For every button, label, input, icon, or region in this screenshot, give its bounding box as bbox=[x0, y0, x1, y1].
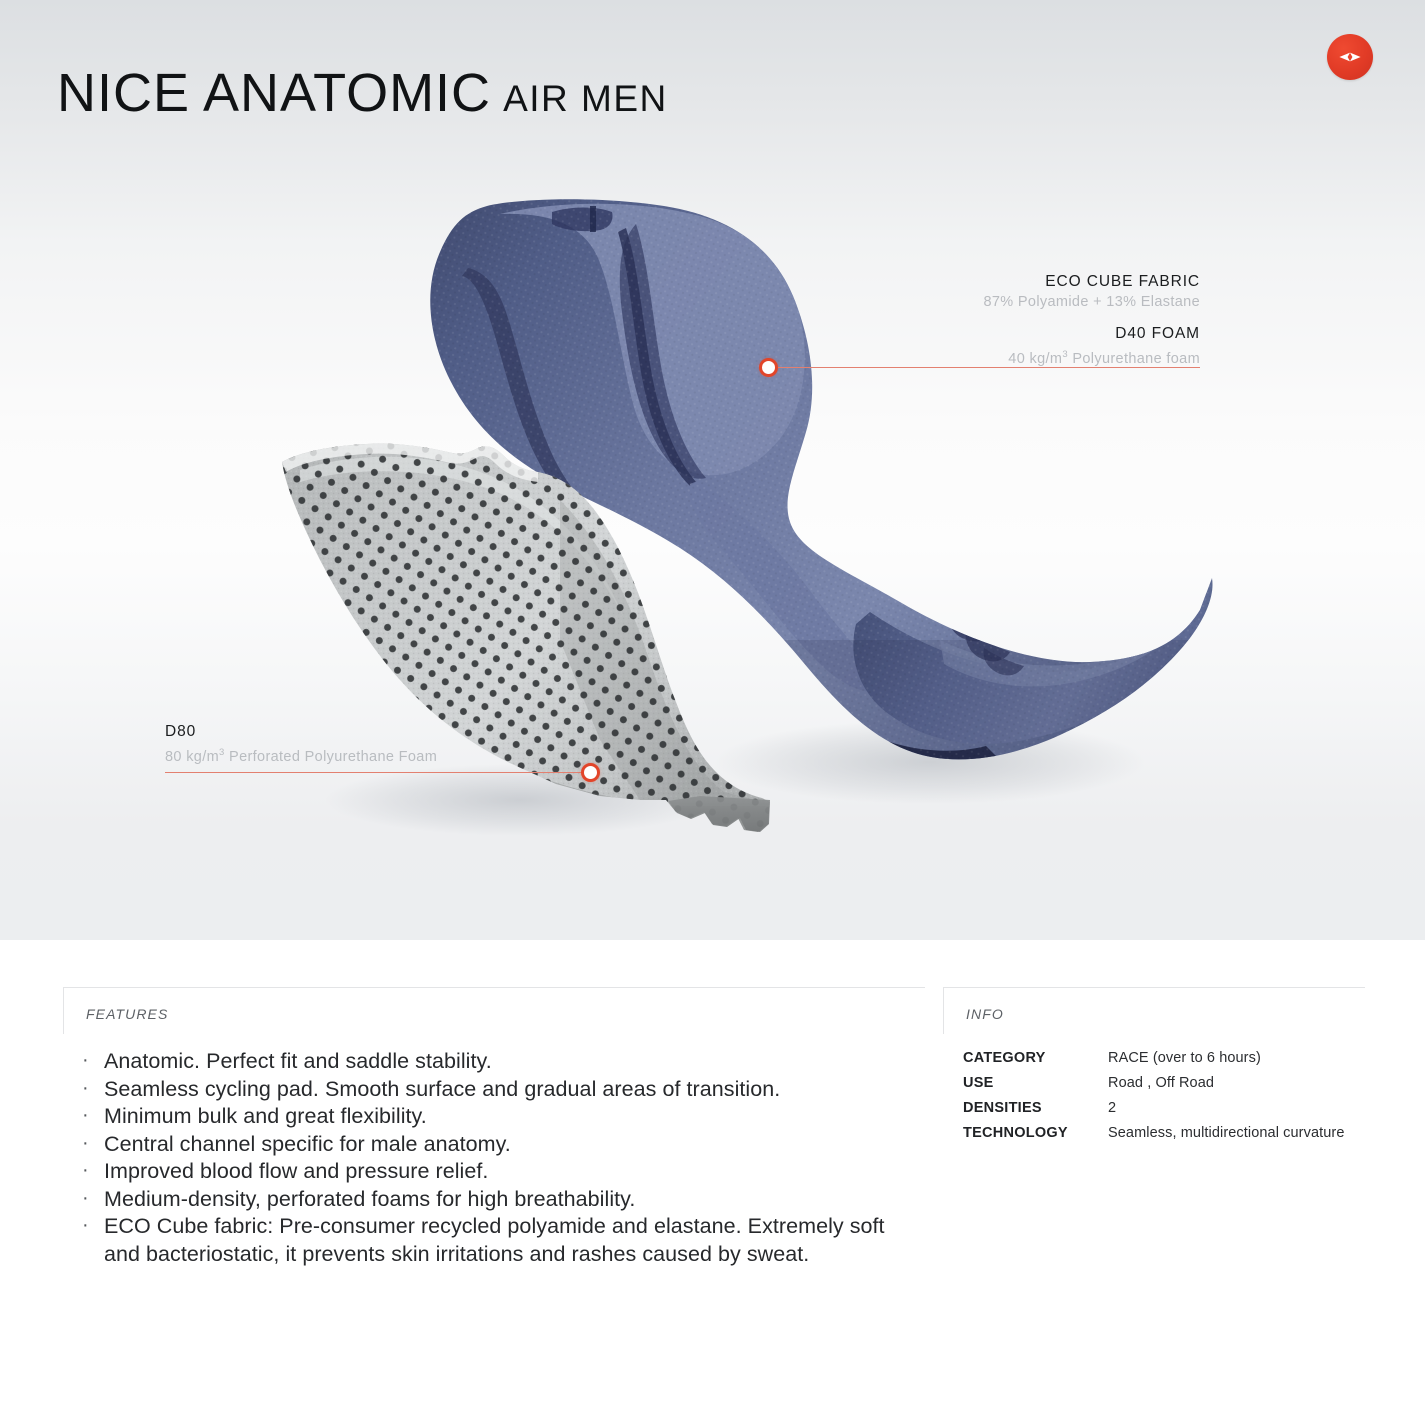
info-key: TECHNOLOGY bbox=[943, 1124, 1108, 1149]
bullet-glyph: · bbox=[82, 1185, 89, 1213]
callout-title: ECO CUBE FABRIC bbox=[800, 272, 1200, 292]
leader-dot-d80 bbox=[581, 763, 600, 782]
bullet-glyph: · bbox=[82, 1047, 89, 1075]
list-item: ·Improved blood flow and pressure relief… bbox=[63, 1158, 925, 1186]
feature-text: Seamless cycling pad. Smooth surface and… bbox=[104, 1077, 780, 1101]
info-heading: INFO bbox=[944, 988, 1365, 1022]
product-svg bbox=[0, 0, 1425, 940]
leader-dot-d40 bbox=[759, 358, 778, 377]
bullet-glyph: · bbox=[82, 1212, 89, 1240]
features-list: ·Anatomic. Perfect fit and saddle stabil… bbox=[63, 1048, 925, 1268]
product-illustration bbox=[0, 0, 1425, 940]
bullet-glyph: · bbox=[82, 1075, 89, 1103]
callout-title: D80 bbox=[165, 722, 585, 742]
table-row: USE Road , Off Road bbox=[943, 1074, 1365, 1099]
callout-subtitle: 80 kg/m3 Perforated Polyurethane Foam bbox=[165, 742, 585, 768]
feature-text: Central channel specific for male anatom… bbox=[104, 1132, 511, 1156]
feature-text: Anatomic. Perfect fit and saddle stabili… bbox=[104, 1049, 492, 1073]
feature-text: Medium-density, perforated foams for hig… bbox=[104, 1187, 635, 1211]
info-key: CATEGORY bbox=[943, 1049, 1108, 1074]
leader-line-left bbox=[165, 772, 589, 773]
table-row: CATEGORY RACE (over to 6 hours) bbox=[943, 1049, 1365, 1074]
info-value: Road , Off Road bbox=[1108, 1074, 1365, 1099]
table-row: DENSITIES 2 bbox=[943, 1099, 1365, 1124]
info-table: CATEGORY RACE (over to 6 hours) USE Road… bbox=[943, 1049, 1365, 1149]
list-item: ·ECO Cube fabric: Pre-consumer recycled … bbox=[63, 1213, 925, 1268]
features-panel: FEATURES ·Anatomic. Perfect fit and sadd… bbox=[63, 987, 925, 1268]
bullet-glyph: · bbox=[82, 1157, 89, 1185]
callout-subtitle: 40 kg/m3 Polyurethane foam bbox=[800, 344, 1200, 370]
hero-section: NICE ANATOMICAIR MEN bbox=[0, 0, 1425, 940]
leader-line-right bbox=[776, 367, 1200, 368]
features-heading: FEATURES bbox=[64, 988, 925, 1022]
info-value: Seamless, multidirectional curvature bbox=[1108, 1124, 1365, 1149]
feature-text: Minimum bulk and great flexibility. bbox=[104, 1104, 427, 1128]
lower-section: FEATURES ·Anatomic. Perfect fit and sadd… bbox=[0, 940, 1425, 1425]
list-item: ·Central channel specific for male anato… bbox=[63, 1131, 925, 1159]
product-spec-sheet: NICE ANATOMICAIR MEN bbox=[0, 0, 1425, 1425]
bullet-glyph: · bbox=[82, 1102, 89, 1130]
callout-d40-foam: D40 FOAM 40 kg/m3 Polyurethane foam bbox=[800, 324, 1200, 370]
info-panel: INFO CATEGORY RACE (over to 6 hours) USE… bbox=[943, 987, 1365, 1149]
callout-eco-cube-fabric: ECO CUBE FABRIC 87% Polyamide + 13% Elas… bbox=[800, 272, 1200, 313]
info-key: USE bbox=[943, 1074, 1108, 1099]
callout-d80-foam: D80 80 kg/m3 Perforated Polyurethane Foa… bbox=[165, 722, 585, 768]
list-item: ·Minimum bulk and great flexibility. bbox=[63, 1103, 925, 1131]
bullet-glyph: · bbox=[82, 1130, 89, 1158]
list-item: ·Seamless cycling pad. Smooth surface an… bbox=[63, 1076, 925, 1104]
feature-text: ECO Cube fabric: Pre-consumer recycled p… bbox=[104, 1214, 885, 1266]
callout-title: D40 FOAM bbox=[800, 324, 1200, 344]
info-key: DENSITIES bbox=[943, 1099, 1108, 1124]
features-header: FEATURES bbox=[63, 987, 925, 1034]
info-header: INFO bbox=[943, 987, 1365, 1034]
info-value: 2 bbox=[1108, 1099, 1365, 1124]
list-item: ·Anatomic. Perfect fit and saddle stabil… bbox=[63, 1048, 925, 1076]
table-row: TECHNOLOGY Seamless, multidirectional cu… bbox=[943, 1124, 1365, 1149]
info-value: RACE (over to 6 hours) bbox=[1108, 1049, 1365, 1074]
feature-text: Improved blood flow and pressure relief. bbox=[104, 1159, 488, 1183]
callout-subtitle: 87% Polyamide + 13% Elastane bbox=[800, 292, 1200, 313]
list-item: ·Medium-density, perforated foams for hi… bbox=[63, 1186, 925, 1214]
